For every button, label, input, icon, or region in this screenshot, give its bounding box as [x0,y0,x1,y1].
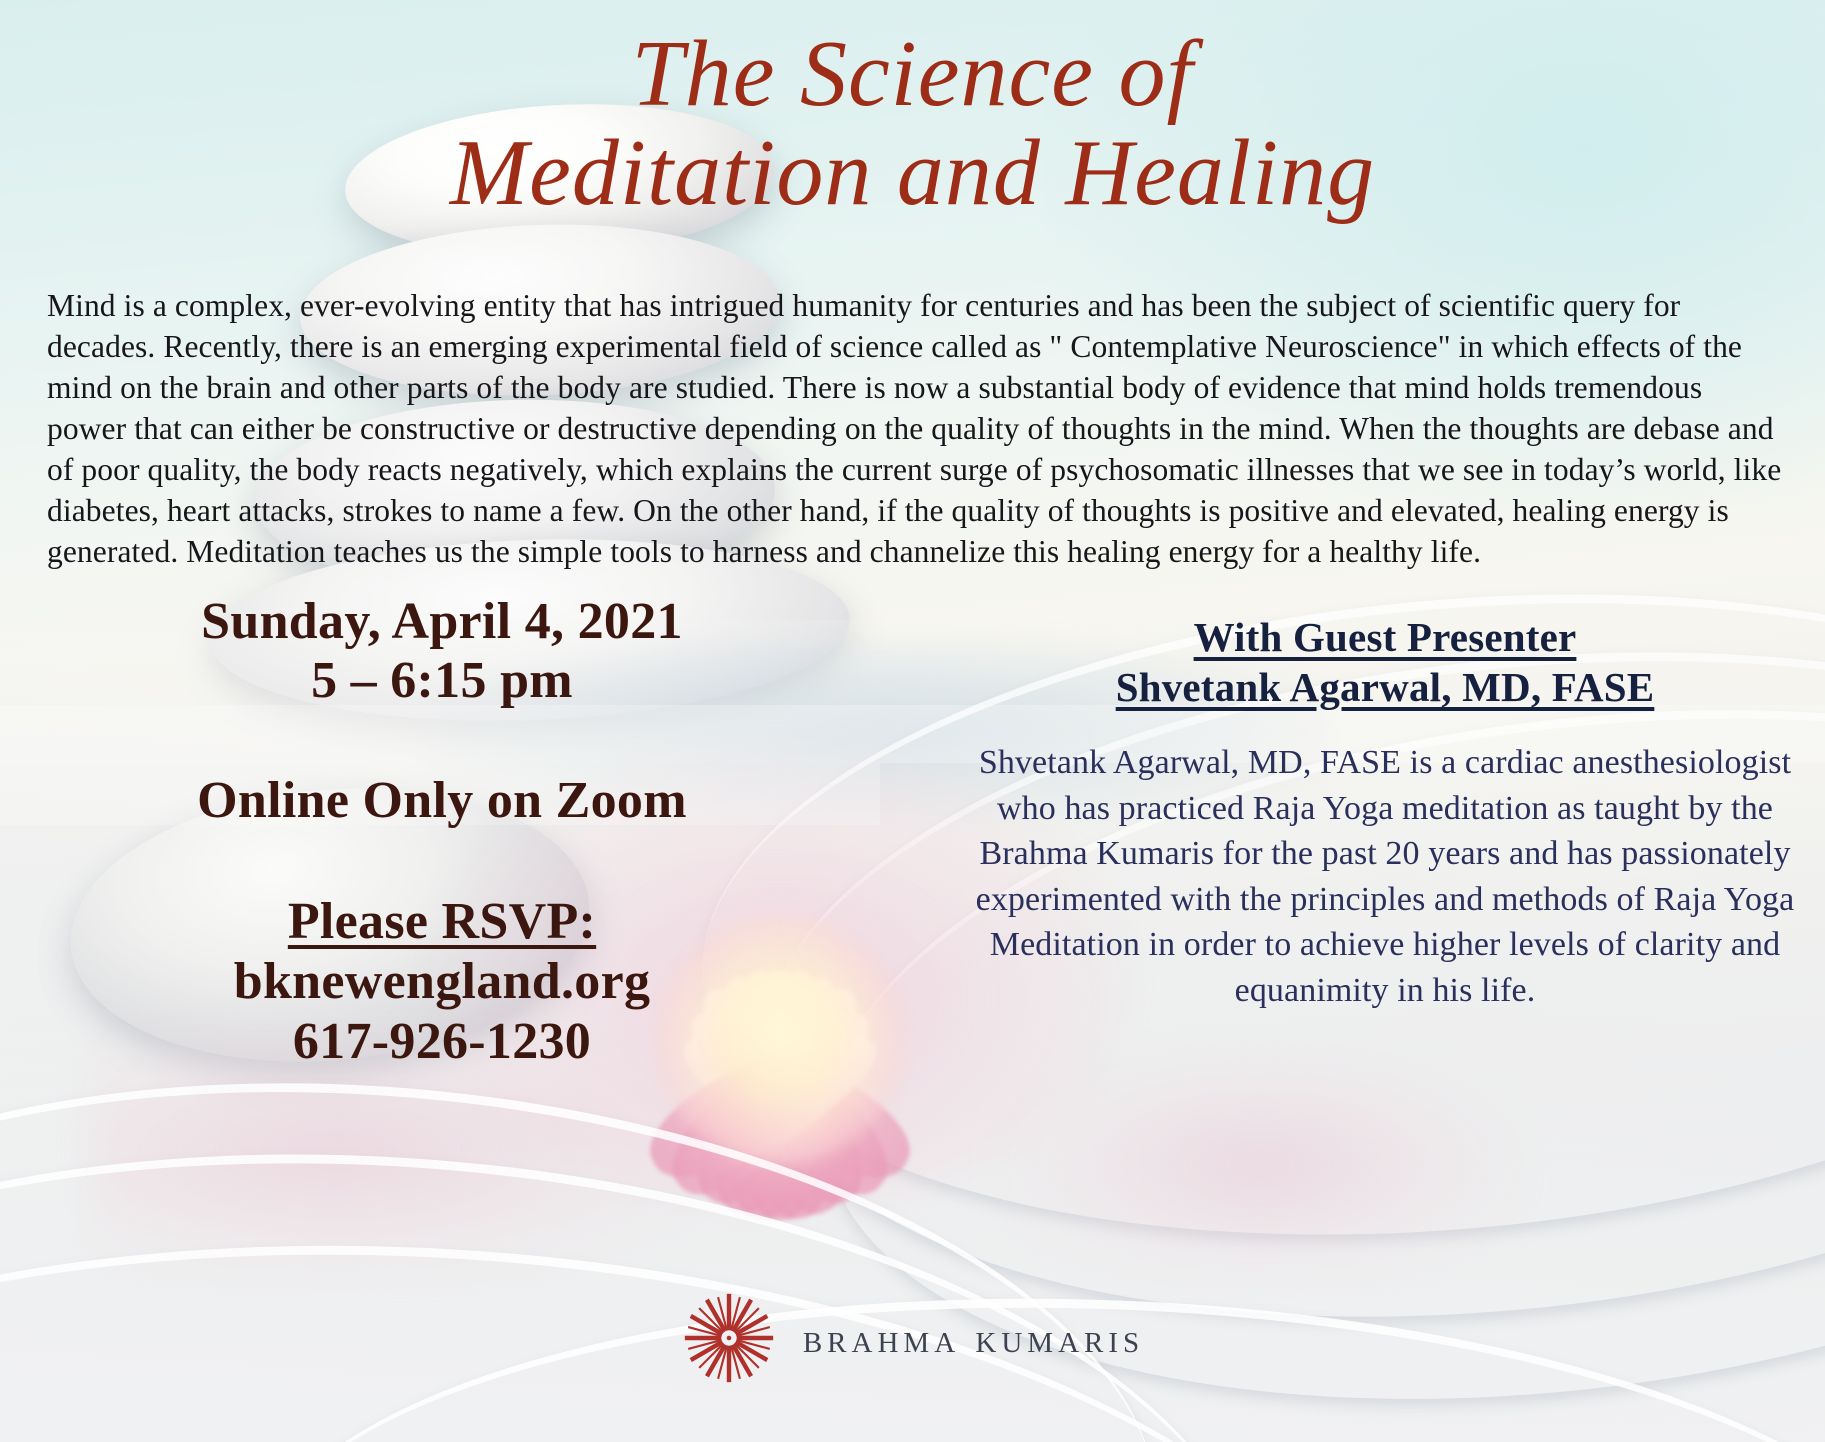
logo-wordmark: Brahma Kumaris [803,1314,1144,1362]
poster-title: The Science of Meditation and Healing [0,22,1825,227]
presenter-name: Shvetank Agarwal, MD, FASE [975,662,1795,712]
title-line-2: Meditation and Healing [0,121,1825,226]
event-date: Sunday, April 4, 2021 [92,592,792,651]
title-line-1: The Science of [0,22,1825,127]
brahma-kumaris-logo: Brahma Kumaris [0,1290,1825,1386]
presenter-column: With Guest Presenter Shvetank Agarwal, M… [975,612,1795,1013]
poster-canvas: The Science of Meditation and Healing Mi… [0,0,1825,1442]
event-details-column: Sunday, April 4, 2021 5 – 6:15 pm Online… [92,592,792,1073]
rsvp-phone-number[interactable]: 617-926-1230 [92,1012,792,1072]
description-paragraph: Mind is a complex, ever-evolving entity … [47,286,1785,573]
event-time: 5 – 6:15 pm [92,651,792,710]
poster-content: The Science of Meditation and Healing Mi… [0,0,1825,1442]
rsvp-label: Please RSVP: [92,892,792,952]
presenter-bio: Shvetank Agarwal, MD, FASE is a cardiac … [975,740,1795,1013]
rsvp-website-link[interactable]: bknewengland.org [92,952,792,1012]
presenter-heading-line-1: With Guest Presenter [975,612,1795,662]
event-format: Online Only on Zoom [92,771,792,830]
starburst-icon [681,1290,777,1386]
